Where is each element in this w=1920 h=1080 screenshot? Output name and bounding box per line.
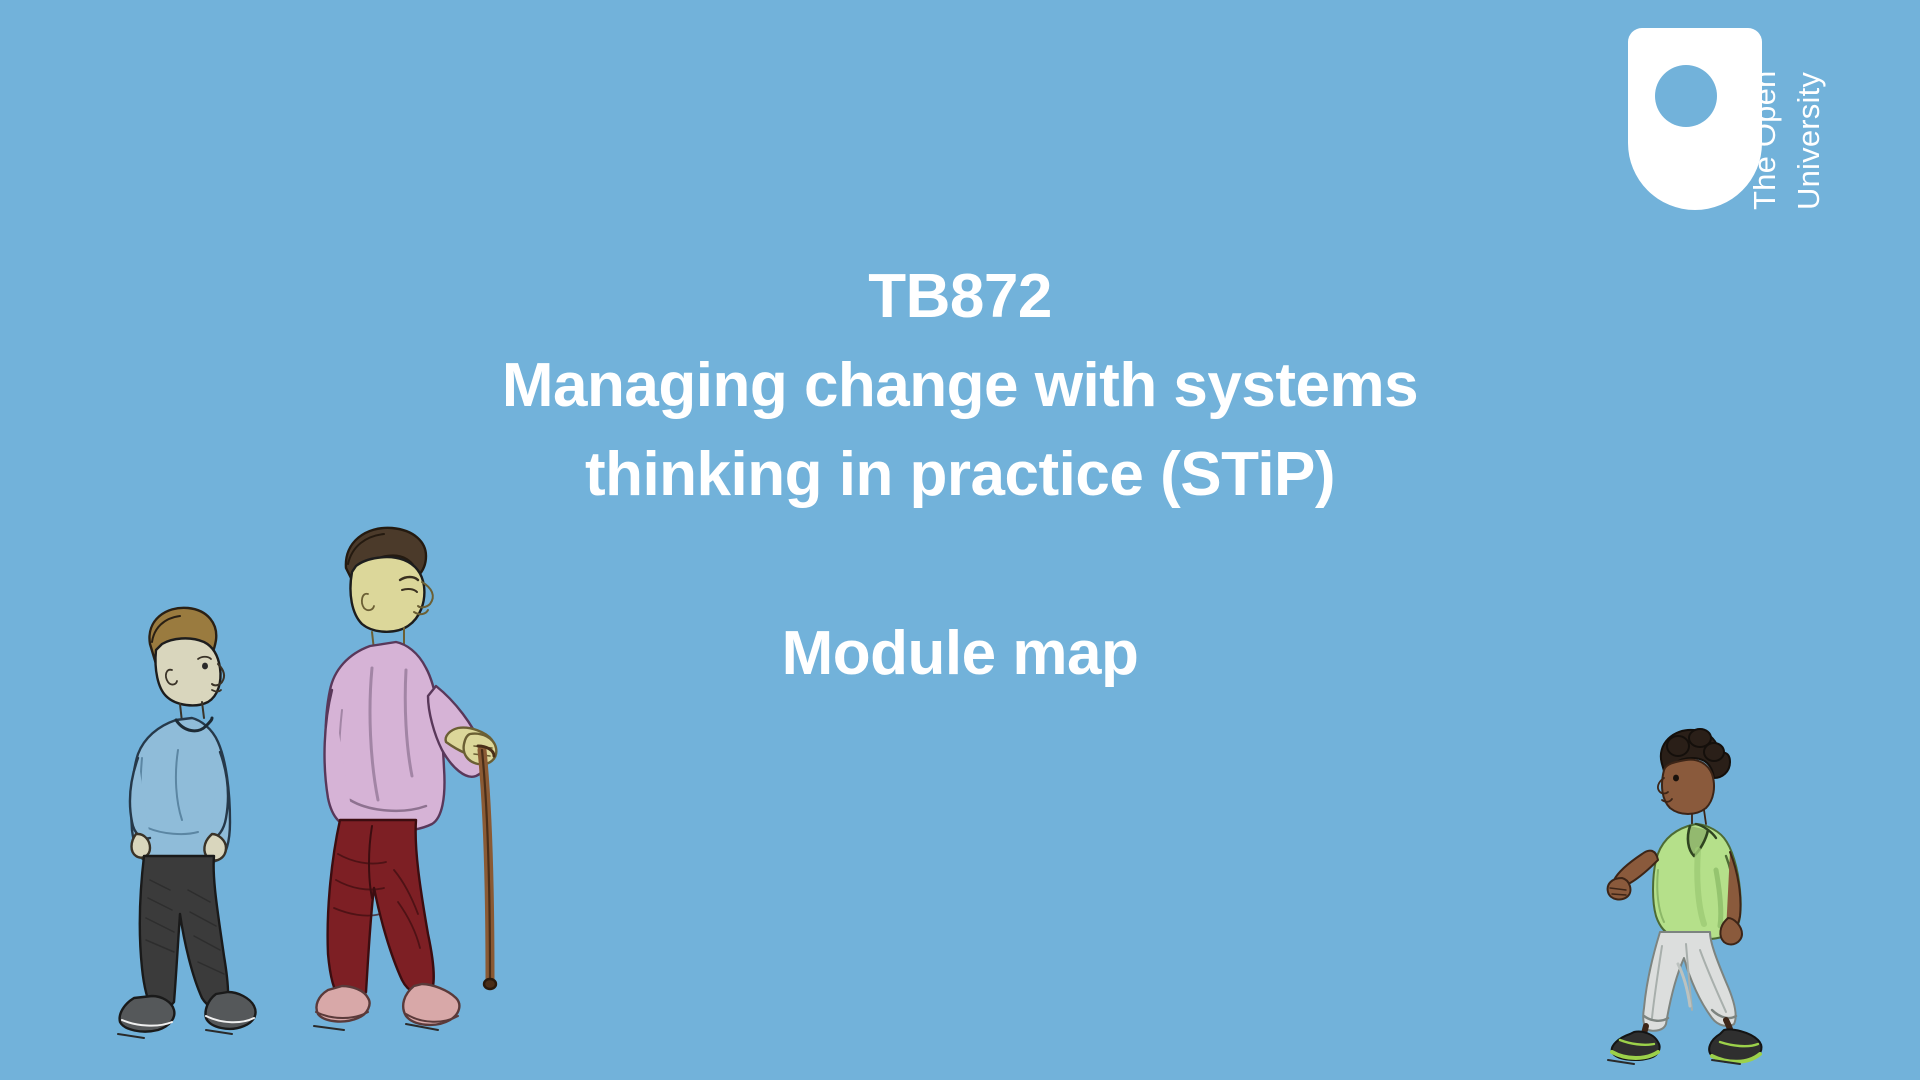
ou-shield-icon [1628,28,1762,210]
page-title-line-1: TB872 [0,252,1920,341]
title-spacer [0,519,1920,609]
the-open-university-logo: The Open University [1628,28,1872,228]
slide-canvas: The Open University TB872 Managing chang… [0,0,1920,1080]
ou-wordmark: The Open University [1776,28,1872,210]
page-title-line-2: Managing change with systems [0,341,1920,430]
ou-shield-dot [1655,65,1717,127]
page-title-line-3: thinking in practice (STiP) [0,430,1920,519]
walking-woman-illustration [1600,720,1800,1065]
page-subtitle: Module map [0,609,1920,698]
ou-wordmark-line-1: The Open [1749,71,1780,210]
ou-wordmark-line-2: University [1793,72,1824,210]
walking-elderly-man-illustration [310,510,510,1060]
title-block: TB872 Managing change with systems think… [0,252,1920,698]
walking-boy-illustration [92,590,262,1060]
